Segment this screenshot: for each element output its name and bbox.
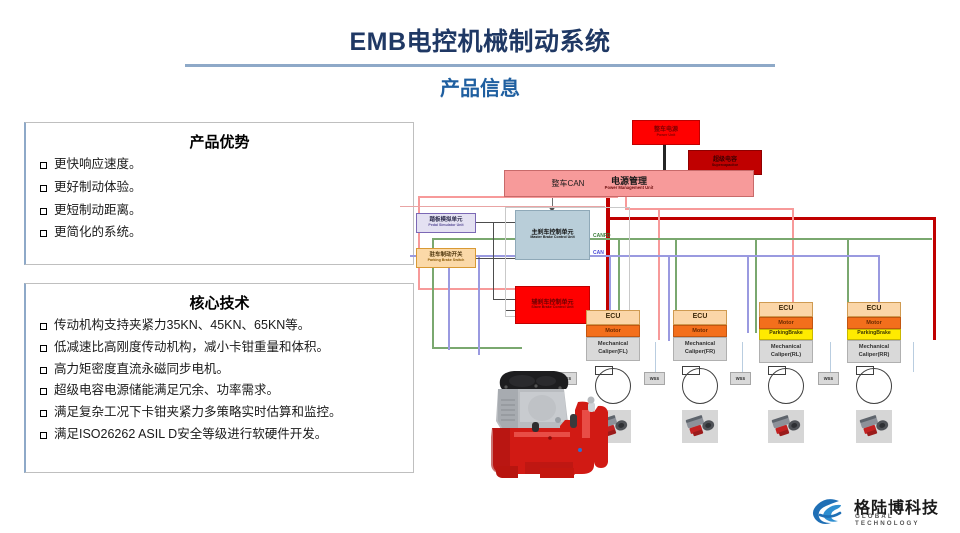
motor-label-fr: Motor [673,325,727,337]
caliper-thumbnail-fr [682,410,718,443]
caliper-label-fr: Mechanical Caliper(FR) [673,337,727,361]
block-label-en: Power Unit [657,134,676,138]
wss-sensor-rr: wss [818,372,839,385]
square-bullet-icon [40,208,47,215]
square-bullet-icon [40,323,47,330]
wheel-rl [768,368,804,404]
motor-label-fl: Motor [586,325,640,337]
page-title: EMB电控机械制动系统 [0,22,960,58]
motor-label-rr: Motor [847,317,901,329]
wire-wss-fr [655,342,656,372]
square-bullet-icon [40,230,47,237]
ecu-label-fl: ECU [586,310,640,325]
caliper-thumbnail-rl [768,410,804,443]
caliper-line2: Caliper(RR) [848,351,900,359]
square-bullet-icon [40,367,47,374]
square-bullet-icon [40,345,47,352]
panel-title-advantages: 产品优势 [26,131,413,152]
caliper-thumb-art [768,410,804,443]
parking-brake-label-rr: ParkingBrake [847,329,901,340]
caliper-line2: Caliper(FR) [674,348,726,356]
block-label-en: Master Brake Control Unit [530,236,574,240]
corner-module-fl: ECU Motor Mechanical Caliper(FL) [586,310,640,361]
wheel-rr [856,368,892,404]
list-item-label: 满足ISO26262 ASIL D安全等级进行软硬件开发。 [54,428,327,442]
list-item-label: 传动机构支持夹紧力35KN、45KN、65KN等。 [54,319,310,333]
list-item: 满足ISO26262 ASIL D安全等级进行软硬件开发。 [40,428,403,442]
caliper-line2: Caliper(RL) [760,351,812,359]
wire-can-left-riser [448,255,450,350]
list-item-label: 更简化的系统。 [54,226,142,240]
wire-lv-to-master-vertical [418,196,420,290]
wire-hv-bus-horizontal [606,217,936,220]
wss-sensor-rl: wss [730,372,751,385]
list-item-label: 满足复杂工况下卡钳夹紧力多策略实时估算和监控。 [54,406,342,420]
core-tech-bullet-list: 传动机构支持夹紧力35KN、45KN、65KN等。 低减速比高刚度传动机构，减小… [26,319,413,442]
caliper-thumb-art [682,410,718,443]
list-item: 满足复杂工况下卡钳夹紧力多策略实时估算和监控。 [40,406,403,420]
square-bullet-icon [40,162,47,169]
square-bullet-icon [40,432,47,439]
list-item-label: 超级电容电源储能满足冗余、功率需求。 [54,384,279,398]
block-slave-brake-control-unit: 辅刹车控制单元 Slave Brake Control Unit [515,286,590,324]
block-label-en: Slave Brake Control Unit [531,306,573,310]
list-item-label: 低减速比高刚度传动机构，减小卡钳重量和体积。 [54,341,329,355]
caliper-label-rl: Mechanical Caliper(RL) [759,340,813,364]
block-vehicle-power-unit: 整车电源 Power Unit [632,120,700,145]
motor-label-rl: Motor [759,317,813,329]
caliper-photo-art [470,362,640,482]
page-subtitle: 产品信息 [0,72,960,101]
panel-core-technology: 核心技术 传动机构支持夹紧力35KN、45KN、65KN等。 低减速比高刚度传动… [24,283,414,473]
list-item: 更好制动体验。 [40,181,403,195]
caliper-label-rr: Mechanical Caliper(RR) [847,340,901,364]
wire-can-bus [410,255,880,257]
corner-module-rl: ECU Motor ParkingBrake Mechanical Calipe… [759,302,813,363]
panel-title-core-tech: 核心技术 [26,292,413,313]
label-can-bus: CAN [593,250,604,256]
list-item: 更短制动距离。 [40,204,403,218]
caliper-line1: Mechanical [760,343,812,351]
list-item-label: 更好制动体验。 [54,181,142,195]
logo-name-en: GLOBAL TECHNOLOGY [855,513,953,527]
list-item: 超级电容电源储能满足冗余、功率需求。 [40,384,403,398]
corner-module-rr: ECU Motor ParkingBrake Mechanical Calipe… [847,302,901,363]
block-master-brake-control-unit: 主刹车控制单元 Master Brake Control Unit [515,210,590,260]
logo-swirl-icon [808,495,848,525]
block-pedal-simulator-unit: 踏板模拟单元 Pedal Simulator Unit [416,213,476,233]
company-logo: 格陆博科技 GLOBAL TECHNOLOGY [808,494,953,526]
list-item: 更简化的系统。 [40,226,403,240]
wire-can-drop-rl [747,255,749,333]
caliper-line2: Caliper(FL) [587,348,639,356]
wire-canfd-drop-rl [755,238,757,333]
advantages-bullet-list: 更快响应速度。 更好制动体验。 更短制动距离。 更简化的系统。 [26,158,413,240]
block-parking-brake-switch: 驻车制动开关 Parking Brake Switch [416,248,476,268]
panel-product-advantages: 产品优势 更快响应速度。 更好制动体验。 更短制动距离。 更简化的系统。 [24,122,414,265]
wire-pedal-to-slave-riser [493,222,494,300]
slide-header: EMB电控机械制动系统 产品信息 [0,0,960,108]
title-divider [185,64,775,67]
caliper-label-fl: Mechanical Caliper(FL) [586,337,640,361]
ecu-label-fr: ECU [673,310,727,325]
wire-hv-drop-rr [933,217,936,340]
wire-lv-drop-fr [658,208,660,340]
wire-wss-rr [830,342,831,372]
ecu-label-rr: ECU [847,302,901,317]
list-item: 高力矩密度直流永磁同步电机。 [40,363,403,377]
square-bullet-icon [40,185,47,192]
list-item-label: 更短制动距离。 [54,204,142,218]
block-label-en: Pedal Simulator Unit [428,224,463,228]
caliper-line1: Mechanical [848,343,900,351]
label-vehicle-can: 整车CAN [503,178,633,189]
label-canfd-bus: CANFD [593,233,611,239]
wire-lv-bus-horizontal [625,208,794,210]
caliper-thumbnail-rr [856,410,892,443]
caliper-thumb-art [856,410,892,443]
list-item: 更快响应速度。 [40,158,403,172]
block-label-en: Parking Brake Switch [428,259,465,263]
block-label-en: Supercapacitor [712,164,738,168]
wire-can-drop-fr [668,255,670,341]
caliper-line1: Mechanical [587,340,639,348]
wire-power-unit-to-pmu [663,145,666,171]
wire-canfd-to-slave [432,347,522,349]
square-bullet-icon [40,388,47,395]
wire-wss-rl [742,342,743,372]
wire-wss-extra [913,342,914,372]
ecu-label-rl: ECU [759,302,813,317]
list-item: 传动机构支持夹紧力35KN、45KN、65KN等。 [40,319,403,333]
list-item: 低减速比高刚度传动机构，减小卡钳重量和体积。 [40,341,403,355]
list-item-label: 高力矩密度直流永磁同步电机。 [54,363,229,377]
list-item-label: 更快响应速度。 [54,158,142,172]
emb-caliper-product-photo [470,362,640,482]
caliper-line1: Mechanical [674,340,726,348]
wire-can-riser-b [478,255,480,355]
square-bullet-icon [40,410,47,417]
wheel-fr [682,368,718,404]
parking-brake-label-rl: ParkingBrake [759,329,813,340]
wss-sensor-fr: wss [644,372,665,385]
corner-module-fr: ECU Motor Mechanical Caliper(FR) [673,310,727,361]
